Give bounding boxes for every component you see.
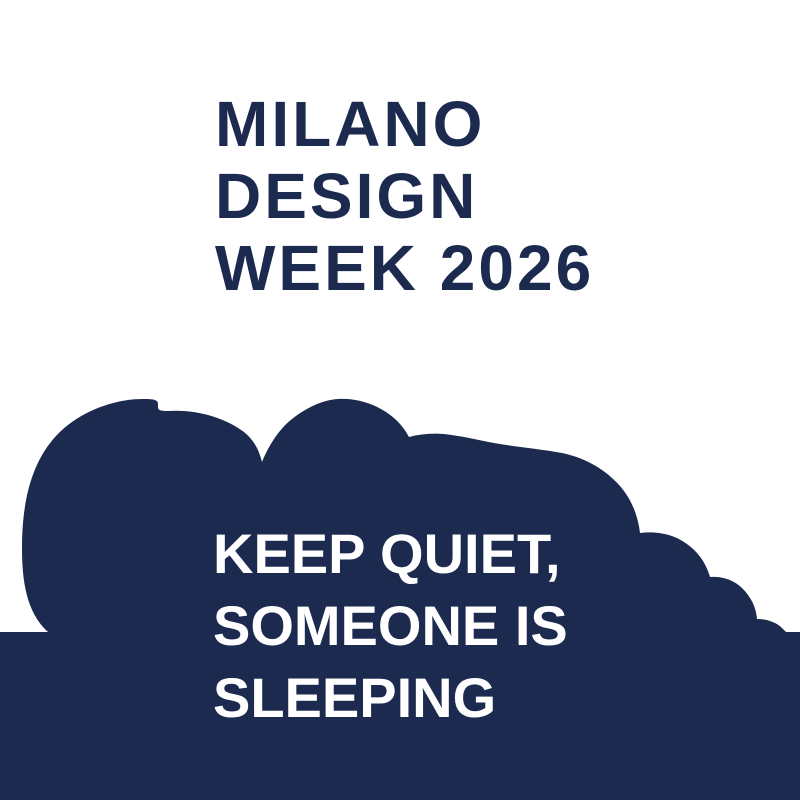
headline-line-2: DESIGN: [215, 160, 775, 232]
headline-line-3: WEEK 2026: [215, 232, 775, 304]
slogan-line-3: SLEEPING: [213, 662, 793, 734]
poster-canvas: MILANO DESIGN WEEK 2026 KEEP QUIET, SOME…: [0, 0, 800, 800]
slogan: KEEP QUIET, SOMEONE IS SLEEPING: [213, 518, 793, 734]
page-title: MILANO DESIGN WEEK 2026: [215, 88, 775, 304]
headline-line-1: MILANO: [215, 88, 775, 160]
slogan-line-1: KEEP QUIET,: [213, 518, 793, 590]
slogan-line-2: SOMEONE IS: [213, 590, 793, 662]
